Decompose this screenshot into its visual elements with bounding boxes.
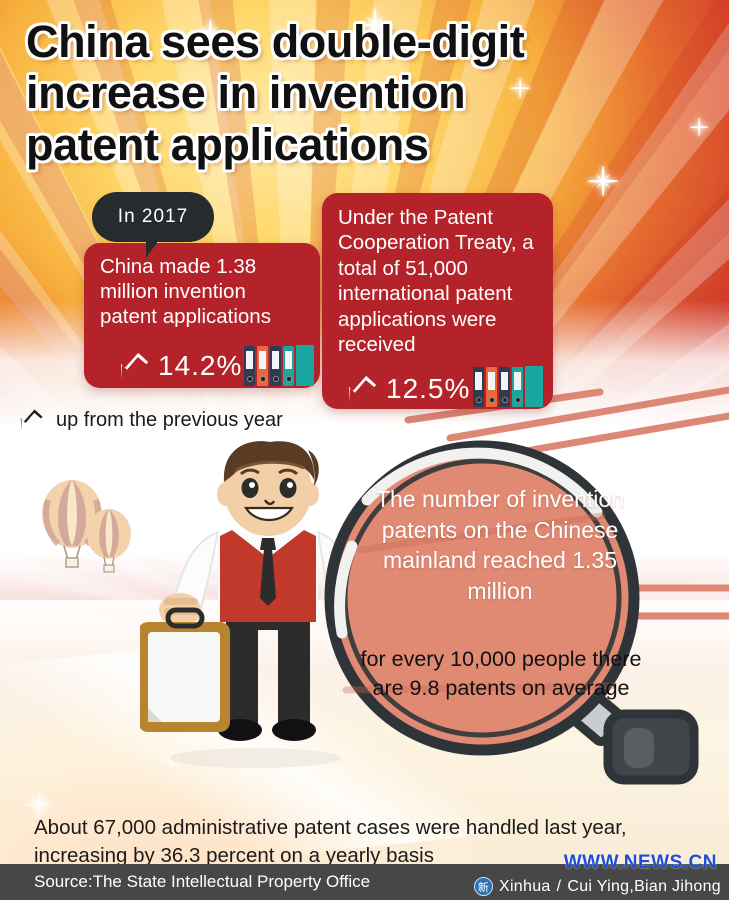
footer-credit: 新 Xinhua / Cui Ying,Bian Jihong	[474, 877, 721, 896]
previous-year-note: up from the previous year	[20, 408, 283, 432]
stat-card-growth: 14.2%	[120, 350, 242, 382]
xinhua-logo-icon: 新	[474, 877, 493, 896]
stat-card-text: Under the Patent Cooperation Treaty, a t…	[322, 193, 553, 357]
up-arrow-icon	[348, 374, 378, 404]
stat-card-china-applications: China made 1.38 million invention patent…	[84, 243, 320, 388]
stat-card-growth: 12.5%	[348, 373, 470, 405]
stat-card-pct-international: Under the Patent Cooperation Treaty, a t…	[322, 193, 553, 409]
up-arrow-icon	[20, 408, 44, 432]
magnifier-headline: The number of invention patents on the C…	[350, 484, 650, 606]
footer-separator: /	[557, 878, 562, 896]
footer-agency: Xinhua	[499, 878, 551, 896]
hot-air-balloons-icon	[36, 478, 144, 574]
previous-year-note-label: up from the previous year	[56, 409, 283, 432]
title-line-1: China sees double-digit	[26, 16, 686, 67]
clipboard-icon	[140, 610, 230, 732]
up-arrow-icon	[120, 351, 150, 381]
footer-source: Source:The State Intellectual Property O…	[34, 872, 370, 892]
year-speech-bubble: In 2017	[92, 192, 214, 242]
year-bubble-label: In 2017	[118, 206, 188, 228]
magnifier-subline: for every 10,000 people there are 9.8 pa…	[346, 645, 656, 703]
stat-card-percent: 12.5%	[386, 373, 470, 405]
news-cn-watermark: WWW.NEWS.CN	[564, 852, 717, 874]
footer-authors: Cui Ying,Bian Jihong	[567, 878, 721, 896]
title-line-2: increase in invention	[26, 67, 686, 118]
stat-card-percent: 14.2%	[158, 350, 242, 382]
file-binders-icon	[244, 345, 314, 386]
stat-card-text: China made 1.38 million invention patent…	[84, 243, 320, 329]
page-title: China sees double-digit increase in inve…	[26, 16, 686, 170]
infographic-poster: China sees double-digit increase in inve…	[0, 0, 729, 900]
file-binders-icon	[473, 366, 543, 407]
title-line-3: patent applications	[26, 119, 686, 170]
